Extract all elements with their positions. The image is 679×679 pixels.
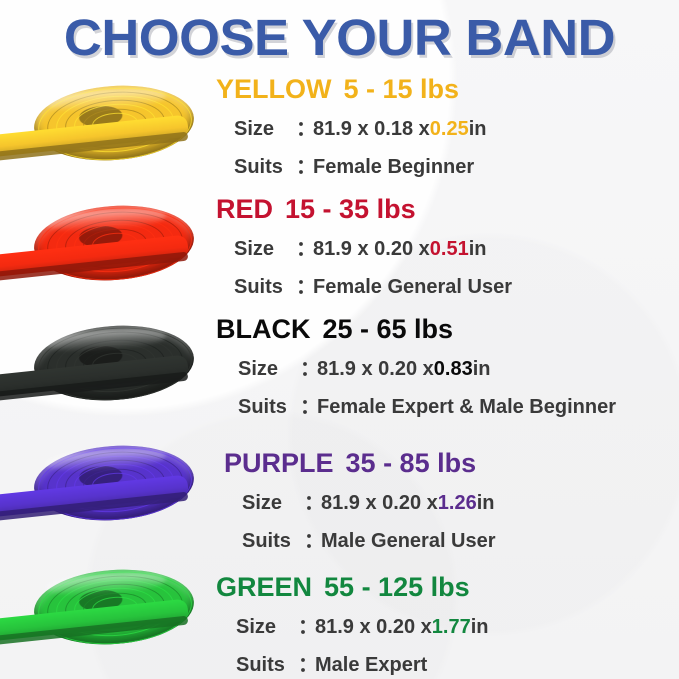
suits-value-black: Female Expert & Male Beginner — [317, 396, 616, 419]
band-info-green: GREEN55 - 125 lbs Size ： 81.9 x 0.20 x 1… — [216, 556, 679, 677]
size-label: Size — [234, 118, 296, 141]
suits-colon: ： — [298, 648, 315, 677]
band-heading-black: BLACK25 - 65 lbs — [216, 316, 679, 343]
size-colon: ： — [296, 232, 313, 261]
band-heading-red: RED15 - 35 lbs — [216, 196, 679, 223]
band-resistance-black: 25 - 65 lbs — [323, 314, 454, 344]
band-tail-yellow — [0, 136, 189, 170]
band-tail-green — [0, 620, 189, 654]
band-photo-green — [0, 562, 210, 674]
band-info-yellow: YELLOW5 - 15 lbs Size ： 81.9 x 0.18 x 0.… — [216, 72, 679, 179]
band-resistance-green: 55 - 125 lbs — [324, 572, 470, 602]
band-size-row-green: Size ： 81.9 x 0.20 x 1.77 in — [236, 610, 679, 639]
band-name-yellow: YELLOW — [216, 74, 332, 104]
choose-your-band-infographic: CHOOSE YOUR BAND YELLOW5 - 15 lbs Size ：… — [0, 0, 679, 679]
size-unit-black: in — [473, 358, 491, 381]
size-colon: ： — [304, 486, 321, 515]
size-label: Size — [236, 616, 298, 639]
band-photo-red — [0, 198, 210, 310]
size-colon: ： — [298, 610, 315, 639]
band-size-row-black: Size ： 81.9 x 0.20 x 0.83 in — [238, 352, 679, 381]
suits-label: Suits — [234, 276, 296, 299]
suits-label: Suits — [242, 530, 304, 553]
band-heading-green: GREEN55 - 125 lbs — [216, 574, 679, 601]
size-unit-purple: in — [477, 492, 495, 515]
band-name-green: GREEN — [216, 572, 312, 602]
band-info-red: RED15 - 35 lbs Size ： 81.9 x 0.20 x 0.51… — [216, 192, 679, 299]
band-heading-purple: PURPLE35 - 85 lbs — [224, 450, 679, 477]
size-prefix-purple: 81.9 x 0.20 x — [321, 492, 438, 515]
band-row-purple: PURPLE35 - 85 lbs Size ： 81.9 x 0.20 x 1… — [0, 432, 679, 552]
band-suits-row-yellow: Suits ： Female Beginner — [234, 150, 679, 179]
band-resistance-yellow: 5 - 15 lbs — [344, 74, 460, 104]
size-thickness-red: 0.51 — [430, 238, 469, 261]
suits-value-yellow: Female Beginner — [313, 156, 474, 179]
suits-colon: ： — [296, 150, 313, 179]
page-title: CHOOSE YOUR BAND — [0, 8, 679, 67]
band-row-black: BLACK25 - 65 lbs Size ： 81.9 x 0.20 x 0.… — [0, 312, 679, 432]
band-resistance-red: 15 - 35 lbs — [285, 194, 416, 224]
suits-colon: ： — [300, 390, 317, 419]
size-thickness-yellow: 0.25 — [430, 118, 469, 141]
band-tail-red — [0, 256, 189, 290]
band-name-purple: PURPLE — [224, 448, 334, 478]
suits-label: Suits — [236, 654, 298, 677]
band-size-row-red: Size ： 81.9 x 0.20 x 0.51 in — [234, 232, 679, 261]
band-row-yellow: YELLOW5 - 15 lbs Size ： 81.9 x 0.18 x 0.… — [0, 72, 679, 192]
size-colon: ： — [300, 352, 317, 381]
size-label: Size — [242, 492, 304, 515]
size-thickness-black: 0.83 — [434, 358, 473, 381]
band-suits-row-red: Suits ： Female General User — [234, 270, 679, 299]
size-colon: ： — [296, 112, 313, 141]
size-thickness-purple: 1.26 — [438, 492, 477, 515]
size-prefix-yellow: 81.9 x 0.18 x — [313, 118, 430, 141]
size-prefix-black: 81.9 x 0.20 x — [317, 358, 434, 381]
band-heading-yellow: YELLOW5 - 15 lbs — [216, 76, 679, 103]
band-suits-row-green: Suits ： Male Expert — [236, 648, 679, 677]
band-suits-row-black: Suits ： Female Expert & Male Beginner — [238, 390, 679, 419]
band-row-green: GREEN55 - 125 lbs Size ： 81.9 x 0.20 x 1… — [0, 556, 679, 676]
band-tail-black — [0, 376, 189, 410]
suits-label: Suits — [234, 156, 296, 179]
band-name-red: RED — [216, 194, 273, 224]
band-suits-row-purple: Suits ： Male General User — [242, 524, 679, 553]
band-photo-black — [0, 318, 210, 430]
size-unit-green: in — [471, 616, 489, 639]
size-prefix-red: 81.9 x 0.20 x — [313, 238, 430, 261]
suits-colon: ： — [296, 270, 313, 299]
suits-value-green: Male Expert — [315, 654, 427, 677]
band-photo-yellow — [0, 78, 210, 190]
size-label: Size — [238, 358, 300, 381]
band-resistance-purple: 35 - 85 lbs — [346, 448, 477, 478]
band-info-purple: PURPLE35 - 85 lbs Size ： 81.9 x 0.20 x 1… — [224, 432, 679, 553]
band-size-row-yellow: Size ： 81.9 x 0.18 x 0.25 in — [234, 112, 679, 141]
size-prefix-green: 81.9 x 0.20 x — [315, 616, 432, 639]
size-unit-red: in — [469, 238, 487, 261]
band-info-black: BLACK25 - 65 lbs Size ： 81.9 x 0.20 x 0.… — [216, 312, 679, 419]
band-row-red: RED15 - 35 lbs Size ： 81.9 x 0.20 x 0.51… — [0, 192, 679, 312]
suits-colon: ： — [304, 524, 321, 553]
size-label: Size — [234, 238, 296, 261]
size-unit-yellow: in — [469, 118, 487, 141]
band-name-black: BLACK — [216, 314, 311, 344]
band-photo-purple — [0, 438, 210, 550]
band-size-row-purple: Size ： 81.9 x 0.20 x 1.26 in — [242, 486, 679, 515]
suits-value-purple: Male General User — [321, 530, 496, 553]
size-thickness-green: 1.77 — [432, 616, 471, 639]
band-tail-purple — [0, 496, 189, 530]
suits-label: Suits — [238, 396, 300, 419]
suits-value-red: Female General User — [313, 276, 512, 299]
